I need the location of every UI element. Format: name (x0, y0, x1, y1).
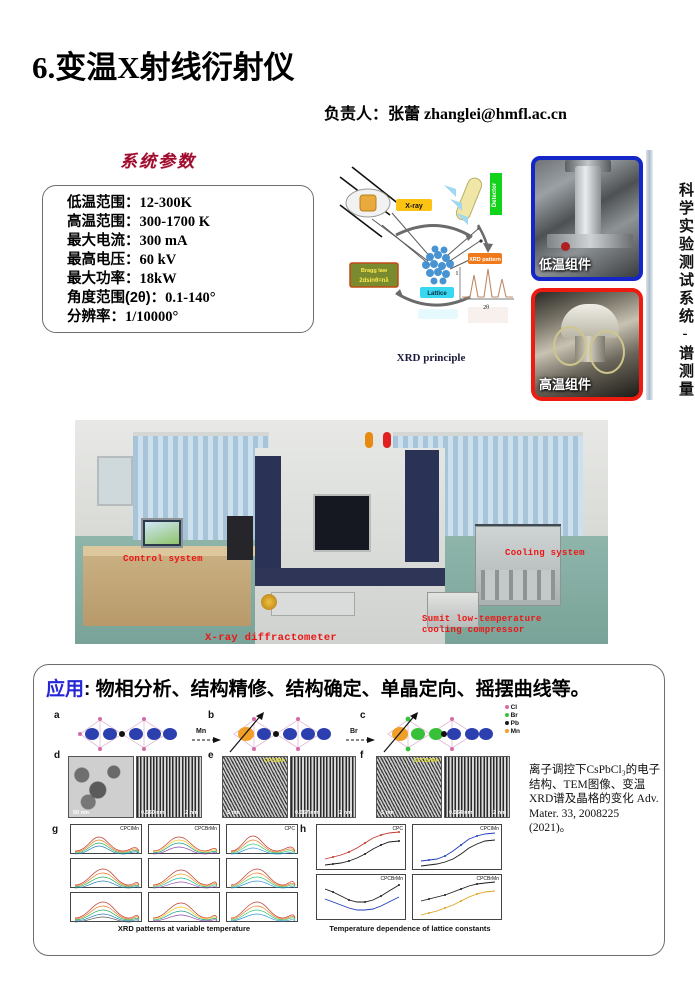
tem-image-d-left: 50 nm (68, 756, 134, 818)
crystal-structure-b (224, 712, 354, 756)
tem-image-f-left: CPCBrMn 5 nm (376, 756, 442, 818)
tem-sample-tag: CPCBrMn (413, 758, 439, 764)
param-row: 低温范围：12-300K (67, 194, 313, 213)
photo-diffractometer-panel-left (255, 456, 281, 568)
param-value: 300-1700 K (140, 214, 210, 230)
left-figure-axis-caption: XRD patterns at variable temperature (66, 924, 302, 933)
panel-letter-g: g (52, 824, 58, 835)
tem-image-e-right: 0.557 nm 2 nm (290, 756, 356, 818)
param-sep: ： (125, 233, 140, 249)
panel-letter-f: f (360, 750, 363, 761)
xrd-pattern-label: XRD pattern (469, 257, 501, 263)
system-parameters-box: 低温范围：12-300K 高温范围：300-1700 K 最大电流：300 mA… (42, 185, 314, 333)
photo-computer-tower (227, 516, 253, 560)
plot-sample-tag: CPCIMn (120, 826, 139, 832)
label-cooling-compressor-line2: cooling compressor (422, 625, 542, 636)
tem-lattice-spacing: 0.557 nm (295, 810, 319, 816)
xrd-waterfall-plot (148, 892, 220, 922)
tem-scalebar-label: 50 nm (73, 810, 89, 816)
furnace-wire-shape (553, 326, 587, 366)
xrd-waterfall-plot (70, 892, 142, 922)
arrow-br-icon (346, 736, 376, 744)
science-figure: Cl Br Pb Mn a b c (48, 700, 520, 928)
legend-item: Cl (505, 704, 520, 712)
tem-image-f-right: 0.554 nm 2 nm (444, 756, 510, 818)
legend-label: Cl (511, 704, 518, 711)
waterfall-curves (149, 893, 221, 923)
waterfall-curves (71, 859, 143, 889)
detector-label: Detector (492, 182, 498, 207)
lattice-label: Lattice (427, 291, 447, 297)
xrd-waterfall-plot: CPCBrMn (148, 824, 220, 854)
plot-sample-tag: CPC (284, 826, 295, 832)
param-label: 高温范围 (67, 214, 125, 230)
legend-label: Pb (511, 720, 519, 727)
param-sep: ： (125, 252, 140, 268)
param-row: 最高电压：60 kV (67, 251, 313, 270)
label-cooling-compressor: Sumit low-temperature cooling compressor (422, 614, 542, 636)
param-label: 最大功率 (67, 271, 125, 287)
param-sep: ： (125, 195, 140, 211)
param-sep: ： (125, 214, 140, 230)
param-row: 最大功率：18kW (67, 270, 313, 289)
param-row: 分辨率：1/10000° (67, 308, 313, 327)
param-value: 60 kV (140, 252, 177, 268)
application-keyword: 应用 (46, 679, 84, 700)
photo-diffractometer-knob (261, 594, 277, 610)
param-row: 高温范围：300-1700 K (67, 213, 313, 232)
low-temperature-component-label: 低温组件 (539, 254, 591, 273)
photo-warning-lamp-amber (365, 432, 373, 448)
slide-root: 6.变温X射线衍射仪 负责人：张蕾 zhanglei@hmfl.ac.cn 系统… (0, 0, 695, 982)
param-value: 12-300K (140, 195, 192, 211)
figure-caption: 离子调控下CsPbCl₃的电子结构、TEM图像、变温XRD谱及晶格的变化 Adv… (529, 763, 661, 836)
application-heading: 应用: 物相分析、结构精修、结构确定、单晶定向、摇摆曲线等。 (46, 674, 590, 701)
tem-lattice-spacing: 0.554 nm (449, 810, 473, 816)
transition-label-br: Br (350, 728, 358, 735)
system-parameters-heading: 系统参数 (120, 147, 196, 172)
label-control-system: Control system (123, 554, 203, 564)
crystal-structure-a (70, 712, 200, 756)
xrd-waterfall-plot (226, 892, 298, 922)
xrd-waterfall-plot: CPCIMn (70, 824, 142, 854)
intensity-axis-label: I (456, 271, 458, 277)
plot-sample-tag: CPCIMn (480, 826, 499, 832)
param-sep: ： (111, 309, 126, 325)
lattice-constant-plot: CPC (316, 824, 406, 870)
param-value: 0.1-140° (165, 290, 216, 306)
lattice-constant-plot: CPCBrMn (412, 874, 502, 920)
legend-label: Mn (511, 728, 520, 735)
tem-scalebar-label: 2 nm (493, 810, 506, 816)
tem-scalebar-label: 5 nm (227, 810, 240, 816)
label-cooling-system: Cooling system (505, 548, 585, 558)
xrd-principle-caption: XRD principle (338, 352, 524, 364)
param-label: 分辨率 (67, 309, 111, 325)
param-label: 角度范围(2θ) (67, 290, 151, 306)
photo-diffractometer-panel-right (405, 450, 439, 562)
plot-sample-tag: CPCBrMn (476, 876, 499, 882)
xrd-waterfall-plot: CPC (226, 824, 298, 854)
label-cooling-compressor-line1: Sumit low-temperature (422, 614, 542, 625)
waterfall-curves (71, 893, 143, 923)
lattice-constant-plot: CPCIMn (412, 824, 502, 870)
label-x-ray-diffractometer: X-ray diffractometer (205, 632, 337, 644)
panel-letter-h: h (300, 824, 306, 835)
tem-scalebar-label: 5 nm (381, 810, 394, 816)
plot-sample-tag: CPCBrMn (380, 876, 403, 882)
photo-diffractometer-control-panel (271, 592, 355, 616)
bragg-law-label: Bragg law (361, 268, 388, 274)
side-decorative-bar (646, 150, 653, 400)
transition-label-mn: Mn (196, 728, 206, 735)
param-value: 18kW (140, 271, 177, 287)
tem-scalebar-label: 2 nm (339, 810, 352, 816)
lattice-constant-plot: CPCBrMn (316, 874, 406, 920)
param-label: 最高电压 (67, 252, 125, 268)
photo-warning-lamp-red (383, 432, 391, 448)
panel-letter-a: a (54, 710, 60, 721)
xrd-principle-diagram: X-ray (338, 163, 524, 335)
photo-diffractometer-window (313, 494, 371, 552)
photo-laptop (141, 518, 183, 548)
cryo-valve-icon (561, 242, 570, 251)
waterfall-curves (149, 859, 221, 889)
photo-chiller-grill (481, 570, 555, 600)
cryo-base-shape (547, 234, 633, 248)
param-label: 低温范围 (67, 195, 125, 211)
high-temperature-component-photo: 高温组件 (531, 288, 643, 401)
tem-image-d-right: 0.560 nm 2 nm (136, 756, 202, 818)
photo-diffractometer-band (255, 568, 445, 586)
xrd-waterfall-plot (226, 858, 298, 888)
crystal-structure-c (378, 712, 508, 756)
tem-lattice-spacing: 0.560 nm (141, 810, 165, 816)
vertical-side-text: 科学实验测试系统-谱测量 (677, 182, 692, 399)
lab-photograph: Control system X-ray diffractometer Cool… (75, 420, 608, 644)
param-sep: ： (125, 271, 140, 287)
owner-contact: 负责人：张蕾 zhanglei@hmfl.ac.cn (324, 100, 567, 124)
right-figure-axis-caption: Temperature dependence of lattice consta… (310, 924, 510, 933)
panel-letter-c: c (360, 710, 366, 721)
legend-label: Br (511, 712, 518, 719)
waterfall-curves (227, 893, 299, 923)
high-temperature-component-label: 高温组件 (539, 374, 591, 393)
tem-sample-tag: CPCIMn (264, 758, 285, 764)
tem-scalebar-label: 2 nm (185, 810, 198, 816)
application-colon: : (84, 679, 90, 700)
low-temperature-component-photo: 低温组件 (531, 156, 643, 281)
xrd-waterfall-plot (148, 858, 220, 888)
page-title: 6.变温X射线衍射仪 (32, 42, 295, 87)
photo-window (97, 456, 133, 506)
cryo-tube-shape (575, 166, 601, 236)
plot-sample-tag: CPC (392, 826, 403, 832)
panel-letter-b: b (208, 710, 214, 721)
arrow-mn-icon (192, 736, 222, 744)
panel-letter-e: e (208, 750, 214, 761)
waterfall-curves (227, 859, 299, 889)
plot-sample-tag: CPCBrMn (194, 826, 217, 832)
photo-laptop-screen (145, 522, 179, 544)
panel-letter-d: d (54, 750, 60, 761)
bragg-formula-label: 2dsinθ=nλ (359, 278, 389, 284)
param-value: 1/10000° (125, 309, 178, 325)
xray-label: X-ray (405, 203, 423, 210)
param-row: 角度范围(2θ)：0.1-140° (67, 289, 313, 308)
param-sep: ： (151, 290, 166, 306)
furnace-wire-shape (589, 330, 625, 374)
application-text: 物相分析、结构精修、结构确定、单晶定向、摇摆曲线等。 (96, 679, 590, 700)
param-row: 最大电流：300 mA (67, 232, 313, 251)
param-value: 300 mA (140, 233, 188, 249)
param-label: 最大电流 (67, 233, 125, 249)
xrd-waterfall-plot (70, 858, 142, 888)
xrd-principle-svg: X-ray (338, 163, 524, 335)
tem-image-e-left: CPCIMn 5 nm (222, 756, 288, 818)
